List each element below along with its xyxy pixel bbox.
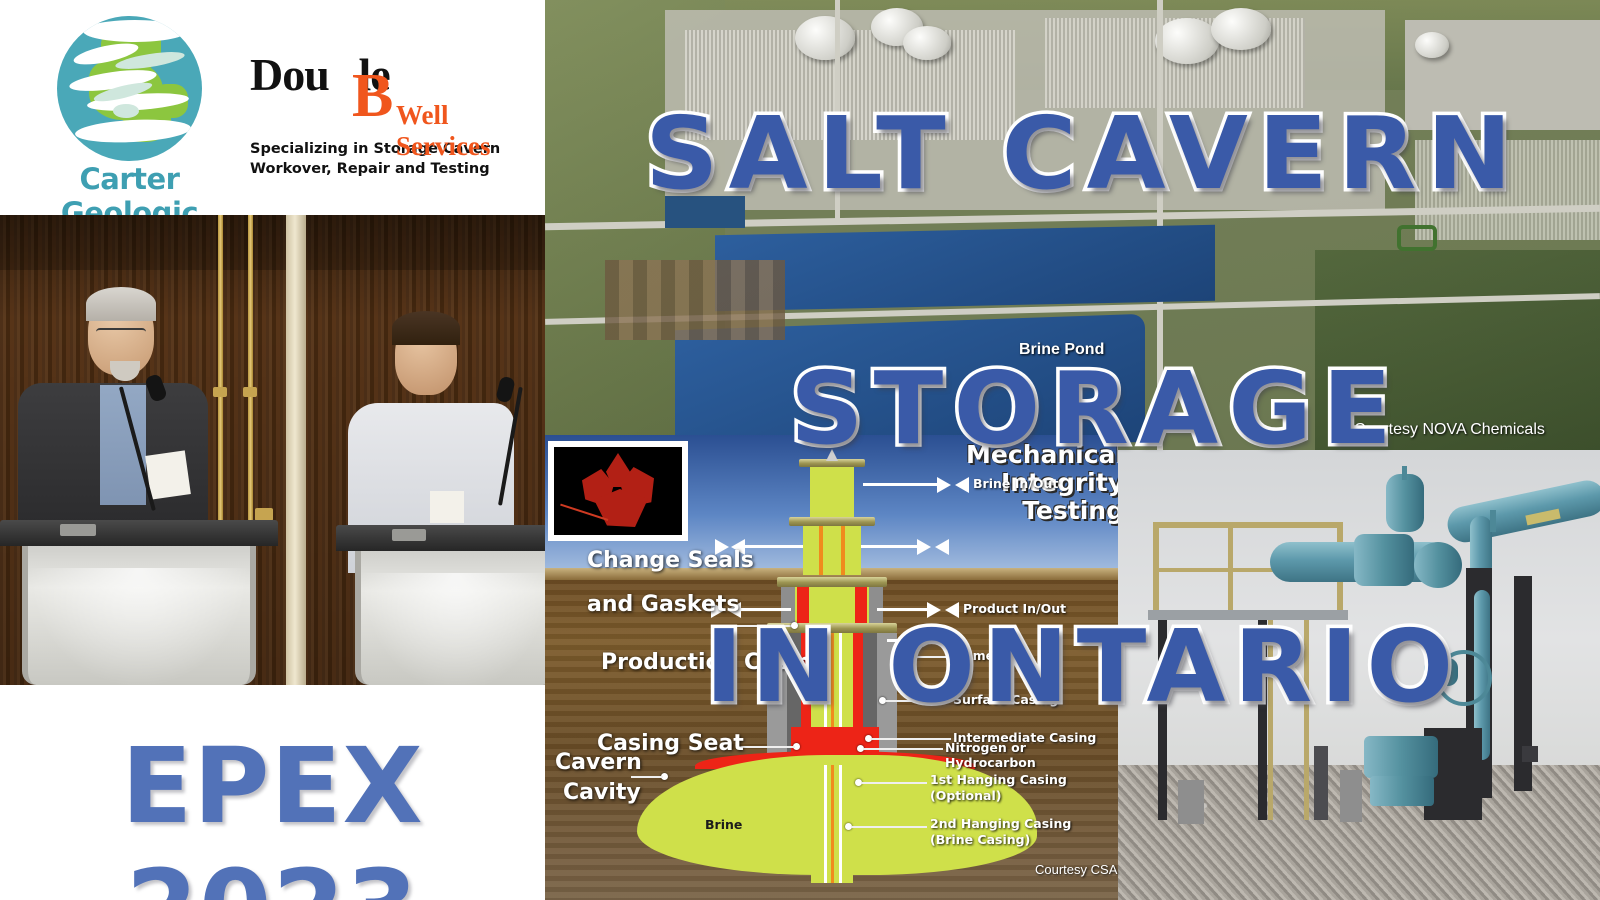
label-cavity: Cavity bbox=[563, 780, 641, 805]
podium-left-top bbox=[0, 520, 278, 546]
small-valve-stem bbox=[1490, 510, 1496, 532]
hanging1-leader-line bbox=[861, 782, 927, 784]
actuator-body bbox=[1354, 534, 1414, 586]
brine-pond-north bbox=[715, 225, 1215, 311]
door-rail-left bbox=[218, 215, 223, 540]
podium-right bbox=[336, 525, 545, 685]
door-hinge-upper bbox=[213, 387, 227, 397]
tagline-line-2: Workover, Repair and Testing bbox=[250, 160, 500, 180]
event-band: EPEX 2023 bbox=[0, 685, 545, 900]
small-post bbox=[1314, 746, 1328, 820]
wellhead-spool-2 bbox=[803, 525, 861, 575]
label-cavern: Cavern bbox=[555, 750, 642, 775]
inner-tubing-right bbox=[841, 525, 845, 575]
lower-valve-assembly bbox=[1364, 736, 1438, 778]
label-hanging-casing-1-optional: (Optional) bbox=[930, 788, 1001, 803]
podium-left-sheen bbox=[28, 568, 250, 685]
settling-beds bbox=[605, 260, 785, 340]
presenters-photo bbox=[0, 215, 545, 685]
mit-heading-line-3: Testing bbox=[949, 497, 1118, 525]
event-title: EPEX 2023 bbox=[0, 725, 545, 900]
podium-right-plate bbox=[392, 529, 426, 541]
title-line-1: SALT CAVERN bbox=[645, 95, 1522, 212]
maple-leaf-inset bbox=[548, 441, 688, 541]
intermediate-casing-leader-line bbox=[871, 738, 951, 740]
brine-arrow-head-left bbox=[955, 477, 969, 493]
annulus-arrow-head-right-a bbox=[917, 539, 931, 555]
hanging2-leader-line bbox=[851, 826, 927, 828]
wellhead-top-spool bbox=[810, 465, 854, 517]
ceiling-shadow bbox=[0, 215, 545, 270]
left-column: Carter Geologic DouBle B Well Services S… bbox=[0, 0, 545, 900]
maple-leaf-image bbox=[554, 447, 682, 535]
title-line-3: IN ONTARIO bbox=[705, 608, 1461, 725]
label-brine-in-out: Brine In/Out bbox=[973, 476, 1058, 491]
podium-right-top bbox=[336, 525, 545, 551]
valve-bonnet bbox=[1414, 542, 1462, 588]
title-line-2: STORAGE bbox=[790, 350, 1402, 467]
double-b-services-text: Well Services bbox=[396, 100, 538, 162]
casing-seat-leader-line bbox=[739, 746, 795, 748]
label-brine: Brine bbox=[705, 817, 742, 832]
door-rail-right bbox=[248, 215, 253, 540]
storage-tank-6 bbox=[1415, 32, 1449, 58]
inner-tubing-left bbox=[819, 525, 823, 575]
platform-handrail-top bbox=[1153, 522, 1343, 528]
annulus-arrow-line-right bbox=[861, 545, 919, 548]
platform-post-mid bbox=[1228, 522, 1233, 612]
wellhead-flange-3 bbox=[777, 577, 887, 587]
hanging-casing-2-lower bbox=[839, 765, 842, 883]
presenter-left-name-badge bbox=[145, 450, 191, 499]
concrete-base-2 bbox=[1178, 780, 1204, 824]
label-change-seals: Change Seals bbox=[587, 548, 754, 573]
storage-tank-4 bbox=[1211, 8, 1271, 50]
label-nitrogen-hydrocarbon: Nitrogen or Hydrocarbon bbox=[945, 740, 1118, 770]
nitrogen-leader-line bbox=[863, 748, 943, 750]
junction-box bbox=[1522, 746, 1538, 762]
storage-tank-5 bbox=[903, 26, 951, 60]
accumulator-vent bbox=[1402, 466, 1407, 480]
brine-arrow-head-right bbox=[937, 477, 951, 493]
lower-flange-block bbox=[1370, 776, 1434, 806]
presenter-right-hair bbox=[392, 311, 460, 345]
presenter-left-glasses bbox=[96, 328, 146, 336]
label-hanging-casing-1: 1st Hanging Casing bbox=[930, 772, 1067, 787]
podium-left-plate bbox=[60, 524, 96, 536]
diagram-photo-credit: Courtesy CSA bbox=[1035, 862, 1117, 877]
tubing-center-lower bbox=[831, 765, 834, 883]
presentation-slide: Carter Geologic DouBle B Well Services S… bbox=[0, 0, 1600, 900]
label-hanging-casing-2: 2nd Hanging Casing bbox=[930, 816, 1071, 831]
double-b-well-services-logo: DouBle B Well Services Specializing in S… bbox=[248, 48, 538, 178]
presenter-left-hair bbox=[86, 287, 156, 321]
presenter-right-name-badge bbox=[430, 491, 464, 523]
storage-tank-3 bbox=[1155, 18, 1219, 64]
logo-band: Carter Geologic DouBle B Well Services S… bbox=[0, 0, 545, 215]
hanging-casing-1-lower bbox=[824, 765, 827, 883]
label-hanging-casing-2-brine: (Brine Casing) bbox=[930, 832, 1030, 847]
concrete-base-1 bbox=[1340, 770, 1362, 822]
vertical-accumulator bbox=[1386, 474, 1424, 532]
podium-right-sheen bbox=[360, 573, 545, 685]
podium-left bbox=[0, 520, 278, 685]
cavern-cavity-leader-line bbox=[631, 776, 663, 778]
wellhead-flange-2 bbox=[789, 517, 875, 526]
double-b-accent-letter: B bbox=[352, 70, 393, 123]
carter-geologic-logo: Carter Geologic bbox=[22, 12, 237, 207]
wellhead-location-marker bbox=[1397, 225, 1437, 251]
door-jamb bbox=[286, 215, 306, 685]
door-hinge-lower bbox=[243, 387, 257, 397]
brine-arrow-line bbox=[863, 483, 941, 486]
globe-icon bbox=[57, 16, 202, 161]
platform-post-left bbox=[1153, 522, 1159, 612]
storage-tank-1 bbox=[795, 16, 855, 60]
annulus-arrow-head-right-b bbox=[935, 539, 949, 555]
